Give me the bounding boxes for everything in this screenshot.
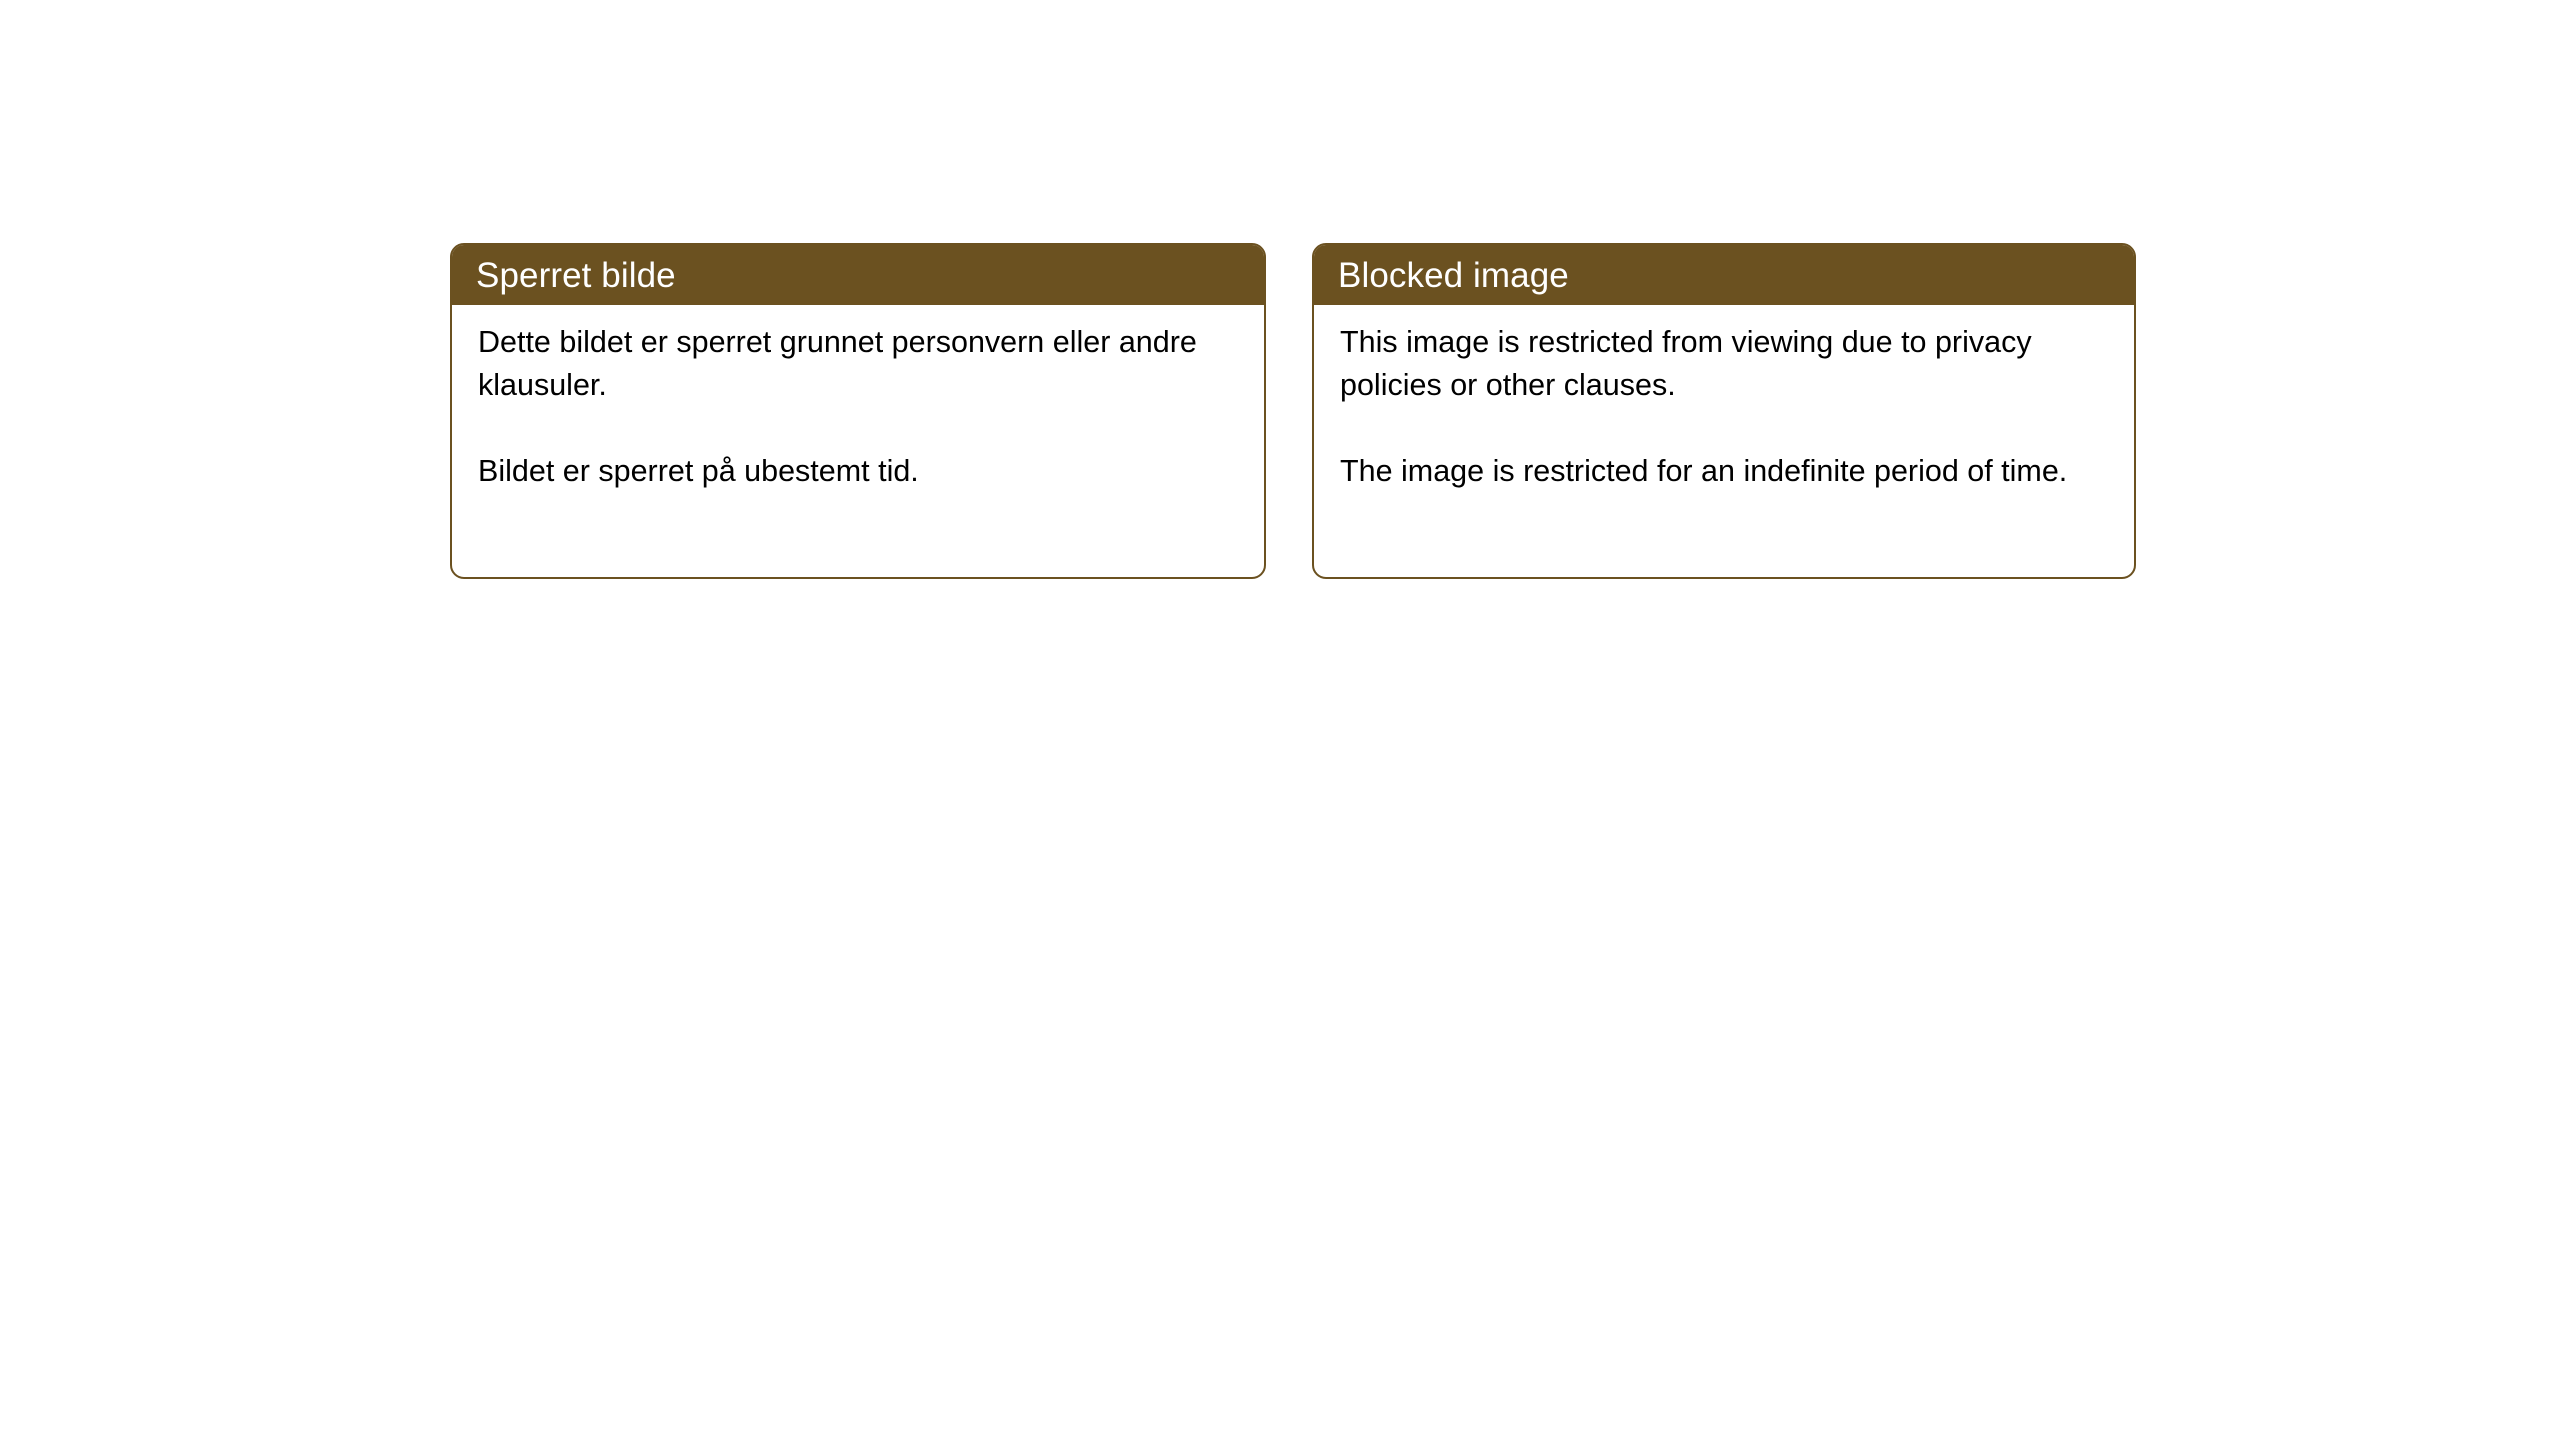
panel-paragraph-english-2: The image is restricted for an indefinit… <box>1340 450 2108 493</box>
panel-header-english: Blocked image <box>1314 245 2134 305</box>
panel-title-norwegian: Sperret bilde <box>476 258 676 293</box>
panel-paragraph-english-1: This image is restricted from viewing du… <box>1340 321 2108 407</box>
panel-paragraph-norwegian-2: Bildet er sperret på ubestemt tid. <box>478 450 1238 493</box>
blocked-image-notice-english: Blocked image This image is restricted f… <box>1312 243 2136 579</box>
panel-body-norwegian: Dette bildet er sperret grunnet personve… <box>452 305 1264 493</box>
panel-body-english: This image is restricted from viewing du… <box>1314 305 2134 493</box>
blocked-image-notice-norwegian: Sperret bilde Dette bildet er sperret gr… <box>450 243 1266 579</box>
panel-paragraph-norwegian-1: Dette bildet er sperret grunnet personve… <box>478 321 1238 407</box>
page-canvas: Sperret bilde Dette bildet er sperret gr… <box>0 0 2560 1440</box>
panel-header-norwegian: Sperret bilde <box>452 245 1264 305</box>
panel-title-english: Blocked image <box>1338 258 1569 293</box>
